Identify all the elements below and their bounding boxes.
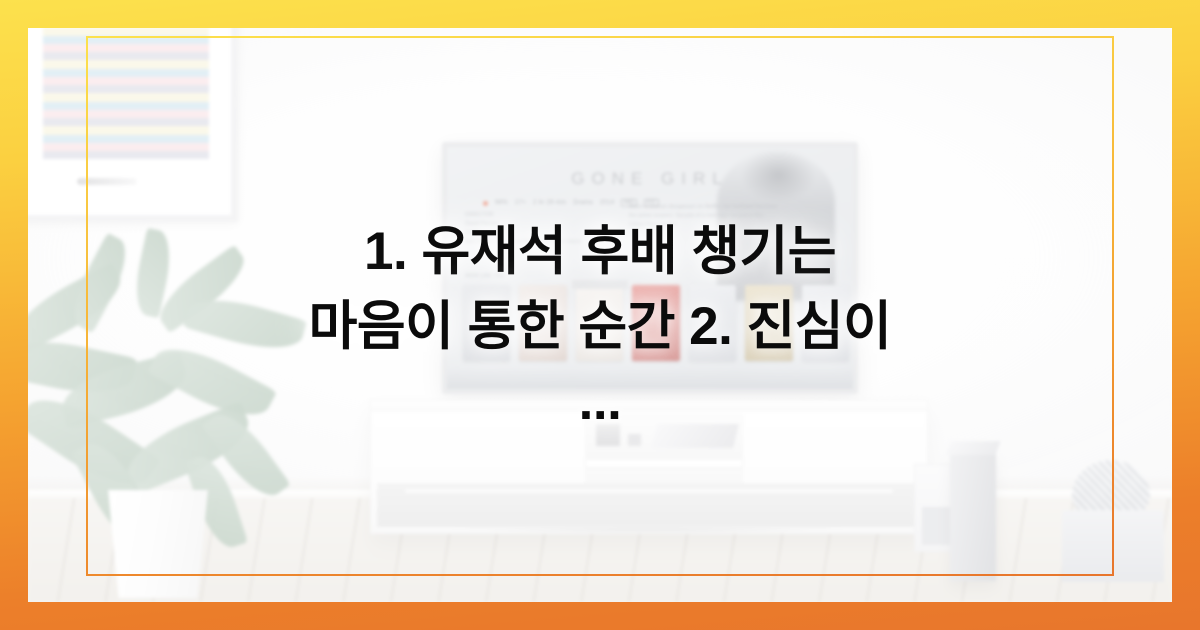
headline-text: 1. 유재석 후배 챙기는 마음이 통한 순간 2. 진심이 ... xyxy=(290,214,910,439)
headline-container: 1. 유재석 후배 챙기는 마음이 통한 순간 2. 진심이 ... xyxy=(28,214,1172,439)
social-card: GONE GIRL 98% 17+ 2 hr 29 min Drama 2014… xyxy=(0,0,1200,630)
card-content-area: GONE GIRL 98% 17+ 2 hr 29 min Drama 2014… xyxy=(28,28,1172,602)
